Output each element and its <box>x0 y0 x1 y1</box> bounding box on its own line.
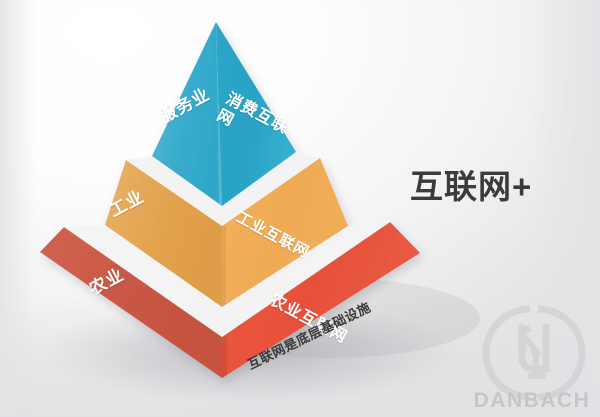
tier-bottom-center-seam <box>222 336 227 378</box>
pyramid-infographic: 服务业 消费互联网 工业 工业互联网 农业 农业互联网 互联网是底层基础设施 互… <box>0 0 600 417</box>
tier-middle-center-seam <box>222 225 226 307</box>
page-title: 互联网+ <box>410 160 532 208</box>
pyramid-graphic <box>0 0 600 417</box>
